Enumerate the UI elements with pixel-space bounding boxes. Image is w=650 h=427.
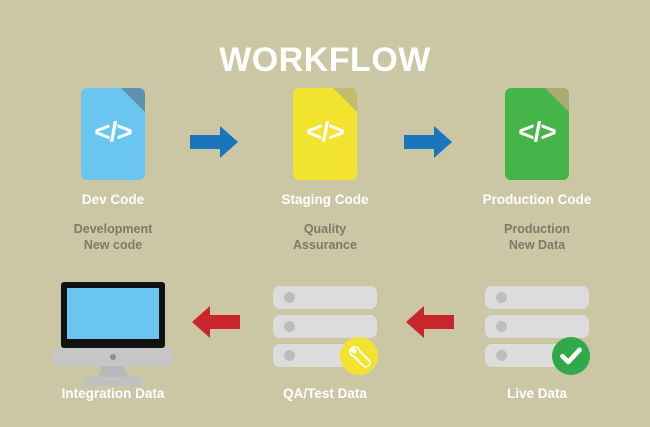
code-glyph: </> [293, 116, 357, 148]
stage-label-integration-data: Integration Data [23, 386, 203, 402]
monitor-chin [53, 348, 173, 366]
arrow-left-red-1 [192, 306, 240, 338]
arrow-right-blue-2 [404, 126, 452, 158]
staging-code-icon-wrap: </> [235, 88, 415, 184]
stage-live-data: Live Data [447, 282, 627, 402]
stage-staging-code: </> Staging Code Quality Assurance [235, 88, 415, 253]
sublabel-line-1: Quality [235, 222, 415, 238]
stage-label-staging-code: Staging Code [235, 192, 415, 208]
server-stack-icon [235, 282, 415, 374]
server-bar [273, 315, 377, 338]
check-badge-icon [552, 337, 590, 375]
server-led [284, 292, 295, 303]
sublabel-line-1: Production [447, 222, 627, 238]
sublabel-line-2: New Data [447, 238, 627, 254]
stage-qa-test-data: QA/Test Data [235, 282, 415, 402]
stage-integration-data: Integration Data [23, 282, 203, 402]
server-bar [485, 286, 589, 309]
arrow-shaft [190, 135, 221, 149]
stage-dev-code: </> Dev Code Development New code [23, 88, 203, 253]
code-document-icon: </> [505, 88, 569, 180]
stage-label-qa-test-data: QA/Test Data [235, 386, 415, 402]
server-stack-icon [447, 282, 627, 374]
wrench-badge-icon [340, 337, 378, 375]
stage-sublabel-dev-code: Development New code [23, 222, 203, 253]
stage-production-code: </> Production Code Production New Data [447, 88, 627, 253]
code-document-icon: </> [81, 88, 145, 180]
stage-label-dev-code: Dev Code [23, 192, 203, 208]
monitor-power-dot [110, 354, 116, 360]
monitor-icon [23, 282, 203, 374]
server-led [284, 350, 295, 361]
sublabel-line-2: New code [23, 238, 203, 254]
sublabel-line-2: Assurance [235, 238, 415, 254]
monitor-stand-base [83, 377, 143, 386]
dev-code-icon-wrap: </> [23, 88, 203, 184]
arrow-head [406, 306, 424, 338]
code-glyph: </> [81, 116, 145, 148]
server-led [496, 350, 507, 361]
stage-label-production-code: Production Code [447, 192, 627, 208]
stage-sublabel-production-code: Production New Data [447, 222, 627, 253]
arrow-shaft [404, 135, 435, 149]
code-glyph: </> [505, 116, 569, 148]
stage-label-live-data: Live Data [447, 386, 627, 402]
server-led [284, 321, 295, 332]
production-code-icon-wrap: </> [447, 88, 627, 184]
monitor-screen [67, 288, 159, 339]
sublabel-line-1: Development [23, 222, 203, 238]
server-bar [273, 286, 377, 309]
page-title: WORKFLOW [0, 40, 650, 80]
arrow-right-blue-1 [190, 126, 238, 158]
workflow-diagram: WORKFLOW </> Dev Code Development New co… [0, 0, 650, 427]
server-bar [485, 315, 589, 338]
server-led [496, 292, 507, 303]
monitor-frame [61, 282, 165, 348]
arrow-head [192, 306, 210, 338]
code-document-icon: </> [293, 88, 357, 180]
stage-sublabel-staging-code: Quality Assurance [235, 222, 415, 253]
server-led [496, 321, 507, 332]
